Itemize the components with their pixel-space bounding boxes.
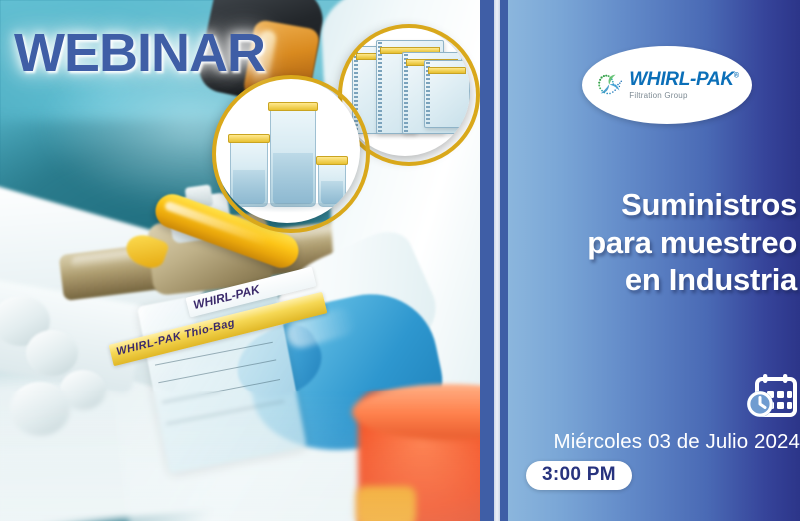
- calendar-clock-icon: [744, 372, 800, 424]
- headline-line-1: Suministros: [518, 186, 797, 224]
- pipe-fitting-icon: [26, 330, 78, 376]
- schedule-block: Miércoles 03 de Julio 2024 3:00 PM: [524, 372, 800, 490]
- logo-brand-text: WHIRL-PAK®: [629, 70, 738, 89]
- event-date: Miércoles 03 de Julio 2024: [524, 430, 800, 454]
- info-panel: WHIRL-PAK® Filtration Group Suministros …: [508, 0, 800, 521]
- webinar-title: WEBINAR: [14, 22, 265, 84]
- registered-icon: ®: [734, 73, 739, 80]
- inset-ground-shadow: [224, 203, 350, 213]
- whirl-swirl-mark-icon: [595, 70, 625, 100]
- headline: Suministros para muestreo en Industria: [518, 186, 797, 299]
- filled-sample-bag: [230, 139, 268, 207]
- inset-sample-bags-filled: [214, 77, 360, 223]
- logo-subtitle: Filtration Group: [629, 91, 687, 100]
- divider-bar-inner: [500, 0, 508, 521]
- event-time-badge: 3:00 PM: [526, 461, 632, 490]
- photo-bottom-blur: [0, 391, 494, 521]
- inset-sample-bags-stack: [340, 26, 470, 156]
- flat-sample-bag: [424, 60, 470, 128]
- headline-line-3: en Industria: [518, 261, 797, 299]
- filled-sample-bag: [270, 107, 316, 207]
- filled-sample-bag: [318, 161, 346, 207]
- divider-bar-outer: [480, 0, 494, 521]
- headline-line-2: para muestreo: [518, 224, 797, 262]
- webinar-banner: WHIRL-PAK Thio-Bag WHIRL-PAK: [0, 0, 800, 521]
- whirl-pak-logo: WHIRL-PAK® Filtration Group: [582, 46, 752, 124]
